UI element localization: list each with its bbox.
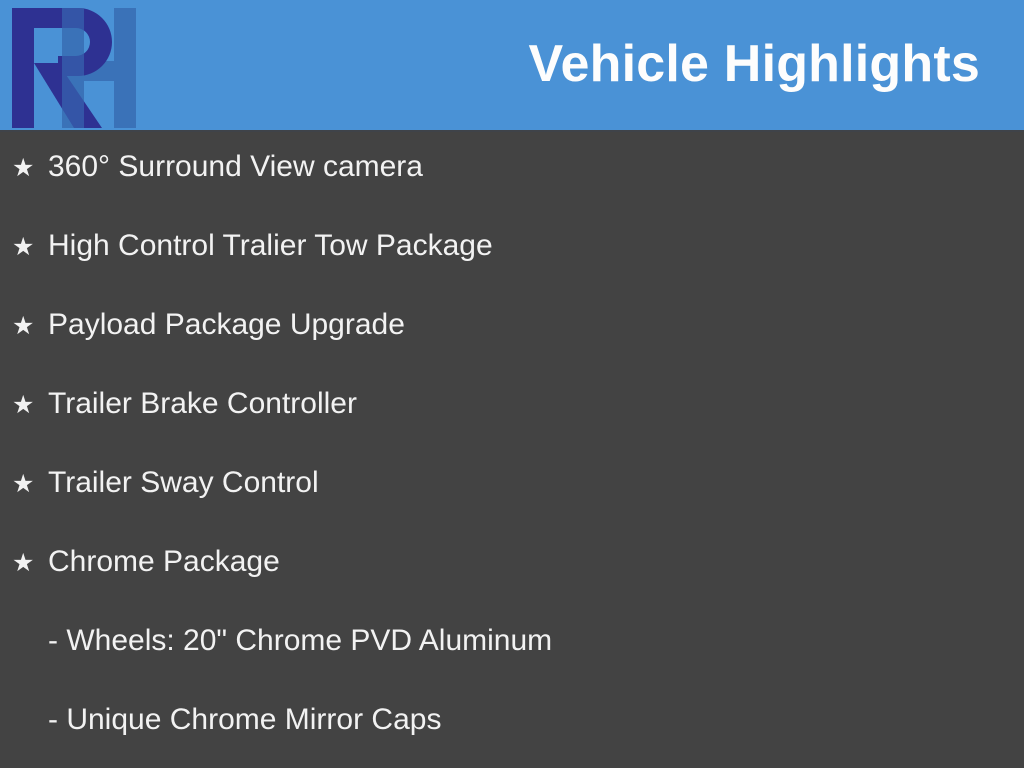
list-item-label: Trailer Brake Controller — [48, 389, 357, 419]
star-icon: ★ — [12, 235, 48, 260]
list-item: ★ Payload Package Upgrade — [0, 310, 1024, 389]
list-item-label: High Control Tralier Tow Package — [48, 231, 493, 261]
star-icon: ★ — [12, 551, 48, 576]
sub-list-item-label: - Unique Chrome Mirror Caps — [48, 705, 441, 735]
vehicle-highlights-slide: Vehicle Highlights ★ 360° Surround View … — [0, 0, 1024, 768]
list-item-label: Chrome Package — [48, 547, 280, 577]
list-item: ★ Chrome Package — [0, 547, 1024, 626]
list-item: ★ High Control Tralier Tow Package — [0, 231, 1024, 310]
logo-letter-h-overlap — [62, 8, 84, 128]
rh-monogram-logo — [6, 6, 142, 130]
list-item-label: Payload Package Upgrade — [48, 310, 405, 340]
sub-list-item-label: - Wheels: 20" Chrome PVD Aluminum — [48, 626, 552, 656]
list-item-label: 360° Surround View camera — [48, 152, 423, 182]
star-icon: ★ — [12, 314, 48, 339]
list-item: ★ 360° Surround View camera — [0, 152, 1024, 231]
star-icon: ★ — [12, 156, 48, 181]
list-item: ★ Trailer Brake Controller — [0, 389, 1024, 468]
page-title: Vehicle Highlights — [529, 38, 980, 90]
star-icon: ★ — [12, 393, 48, 418]
slide-header: Vehicle Highlights — [0, 0, 1024, 132]
highlights-list: ★ 360° Surround View camera ★ High Contr… — [0, 132, 1024, 768]
list-item: ★ Trailer Sway Control — [0, 468, 1024, 547]
sub-list-item: - Wheels: 20" Chrome PVD Aluminum — [0, 626, 1024, 705]
sub-list-item: - Unique Chrome Mirror Caps — [0, 705, 1024, 768]
list-item-label: Trailer Sway Control — [48, 468, 319, 498]
star-icon: ★ — [12, 472, 48, 497]
